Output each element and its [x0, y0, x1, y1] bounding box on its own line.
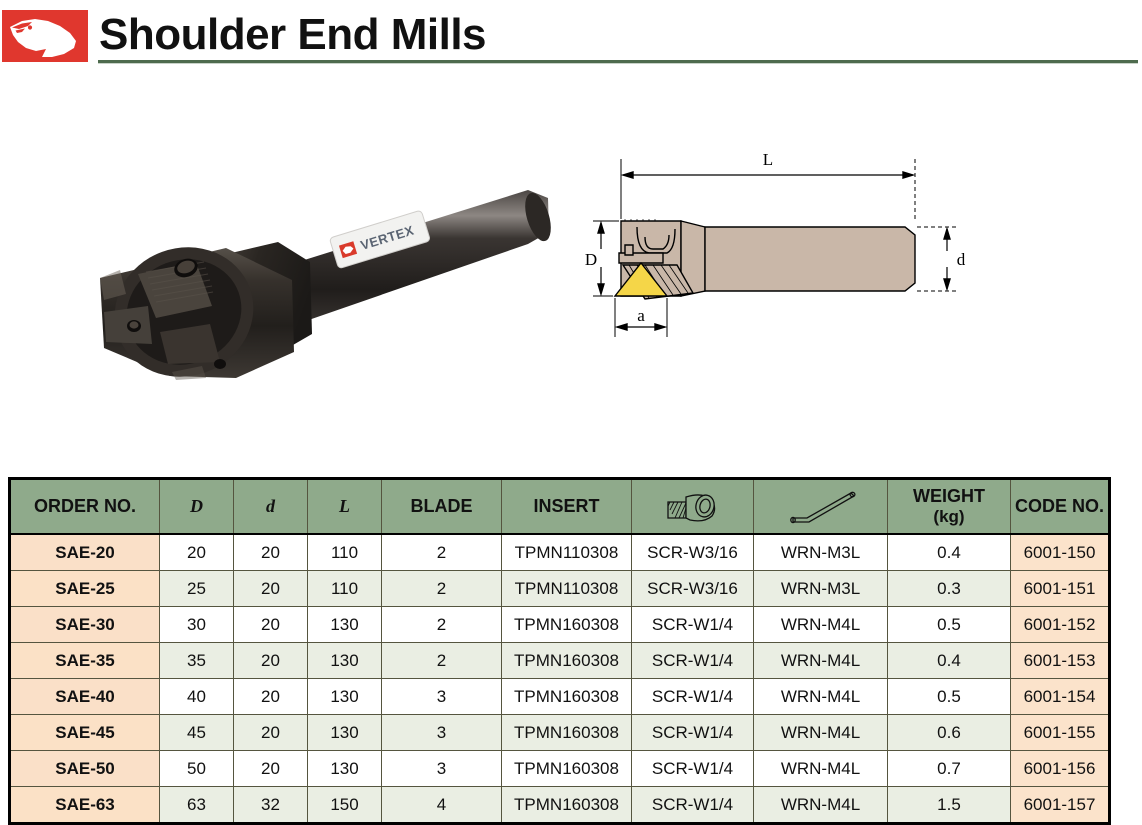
weight-unit: (kg) — [888, 507, 1010, 527]
dimension-drawing: L D d a — [575, 141, 975, 356]
cell-blade: 2 — [382, 571, 502, 607]
cell-code: 6001-156 — [1011, 751, 1110, 787]
cell-d: 20 — [234, 643, 308, 679]
cell-blade: 3 — [382, 751, 502, 787]
title-divider — [98, 60, 1138, 64]
cell-blade: 2 — [382, 534, 502, 571]
column-header-blade: BLADE — [382, 479, 502, 535]
cell-wrench: WRN-M4L — [754, 751, 888, 787]
cell-blade: 3 — [382, 715, 502, 751]
cell-d: 20 — [234, 751, 308, 787]
cell-blade: 3 — [382, 679, 502, 715]
cell-D: 35 — [160, 643, 234, 679]
cell-D: 50 — [160, 751, 234, 787]
column-header-insert: INSERT — [502, 479, 632, 535]
dimension-label-D: D — [585, 250, 597, 269]
cell-screw: SCR-W1/4 — [632, 715, 754, 751]
cell-weight: 0.7 — [888, 751, 1011, 787]
cell-order: SAE-20 — [10, 534, 160, 571]
table-row: SAE-4545201303TPMN160308SCR-W1/4WRN-M4L0… — [10, 715, 1110, 751]
cell-wrench: WRN-M3L — [754, 571, 888, 607]
column-header-screw — [632, 479, 754, 535]
table-row: SAE-2020201102TPMN110308SCR-W3/16WRN-M3L… — [10, 534, 1110, 571]
cell-L: 130 — [308, 715, 382, 751]
cell-d: 20 — [234, 571, 308, 607]
cell-screw: SCR-W1/4 — [632, 751, 754, 787]
cell-screw: SCR-W3/16 — [632, 534, 754, 571]
cell-order: SAE-45 — [10, 715, 160, 751]
cell-wrench: WRN-M4L — [754, 607, 888, 643]
cell-d: 20 — [234, 679, 308, 715]
cell-screw: SCR-W1/4 — [632, 679, 754, 715]
cell-code: 6001-153 — [1011, 643, 1110, 679]
weight-label: WEIGHT — [913, 486, 985, 506]
cell-blade: 2 — [382, 607, 502, 643]
cell-code: 6001-154 — [1011, 679, 1110, 715]
cell-L: 130 — [308, 643, 382, 679]
cell-order: SAE-50 — [10, 751, 160, 787]
cell-weight: 0.4 — [888, 534, 1011, 571]
cell-insert: TPMN160308 — [502, 643, 632, 679]
cell-D: 20 — [160, 534, 234, 571]
cell-wrench: WRN-M4L — [754, 715, 888, 751]
table-row: SAE-3535201302TPMN160308SCR-W1/4WRN-M4L0… — [10, 643, 1110, 679]
page-title: Shoulder End Mills — [99, 12, 486, 58]
table-row: SAE-2525201102TPMN110308SCR-W3/16WRN-M3L… — [10, 571, 1110, 607]
page-header: Shoulder End Mills — [0, 0, 1142, 78]
column-header-D: D — [160, 479, 234, 535]
table-row: SAE-4040201303TPMN160308SCR-W1/4WRN-M4L0… — [10, 679, 1110, 715]
dimension-label-d: d — [957, 250, 966, 269]
cell-code: 6001-150 — [1011, 534, 1110, 571]
cell-screw: SCR-W3/16 — [632, 571, 754, 607]
column-header-order-no: ORDER NO. — [10, 479, 160, 535]
specification-table: ORDER NO. D d L BLADE INSERT — [8, 477, 1111, 825]
dimension-label-a: a — [637, 306, 645, 325]
cell-D: 30 — [160, 607, 234, 643]
cell-insert: TPMN160308 — [502, 607, 632, 643]
cell-code: 6001-152 — [1011, 607, 1110, 643]
cell-D: 40 — [160, 679, 234, 715]
column-header-wrench — [754, 479, 888, 535]
cell-weight: 0.5 — [888, 679, 1011, 715]
cell-weight: 0.6 — [888, 715, 1011, 751]
cell-L: 130 — [308, 679, 382, 715]
cell-wrench: WRN-M3L — [754, 534, 888, 571]
table-row: SAE-3030201302TPMN160308SCR-W1/4WRN-M4L0… — [10, 607, 1110, 643]
cell-weight: 0.5 — [888, 607, 1011, 643]
cell-screw: SCR-W1/4 — [632, 643, 754, 679]
cell-d: 20 — [234, 715, 308, 751]
column-header-weight: WEIGHT (kg) — [888, 479, 1011, 535]
cell-blade: 2 — [382, 643, 502, 679]
cell-screw: SCR-W1/4 — [632, 607, 754, 643]
cell-insert: TPMN160308 — [502, 751, 632, 787]
dimension-label-L: L — [763, 150, 773, 169]
cell-insert: TPMN110308 — [502, 534, 632, 571]
socket-head-screw-icon — [662, 489, 724, 525]
cell-order: SAE-40 — [10, 679, 160, 715]
cell-weight: 0.4 — [888, 643, 1011, 679]
cell-order: SAE-30 — [10, 607, 160, 643]
cell-order: SAE-25 — [10, 571, 160, 607]
cell-L: 130 — [308, 751, 382, 787]
cell-code: 6001-151 — [1011, 571, 1110, 607]
cell-insert: TPMN160308 — [502, 679, 632, 715]
column-header-L: L — [308, 479, 382, 535]
cell-L: 130 — [308, 607, 382, 643]
table-row: SAE-5050201303TPMN160308SCR-W1/4WRN-M4L0… — [10, 751, 1110, 787]
cell-L: 110 — [308, 534, 382, 571]
vertex-logo-badge — [2, 10, 88, 62]
figures-area: VERTEX — [0, 86, 1142, 466]
cell-D: 45 — [160, 715, 234, 751]
eagle-head-icon — [2, 10, 88, 62]
cell-insert: TPMN160308 — [502, 715, 632, 751]
column-header-code-no: CODE NO. — [1011, 479, 1110, 535]
product-photo: VERTEX — [60, 166, 560, 466]
cell-code: 6001-155 — [1011, 715, 1110, 751]
cell-L: 110 — [308, 571, 382, 607]
hex-key-wrench-icon — [777, 488, 865, 526]
cell-D: 25 — [160, 571, 234, 607]
cell-wrench: WRN-M4L — [754, 643, 888, 679]
cell-d: 20 — [234, 534, 308, 571]
column-header-d: d — [234, 479, 308, 535]
table-header-row: ORDER NO. D d L BLADE INSERT — [10, 479, 1110, 535]
cell-insert: TPMN110308 — [502, 571, 632, 607]
cell-order: SAE-35 — [10, 643, 160, 679]
cell-d: 20 — [234, 607, 308, 643]
cell-weight: 0.3 — [888, 571, 1011, 607]
cell-wrench: WRN-M4L — [754, 679, 888, 715]
